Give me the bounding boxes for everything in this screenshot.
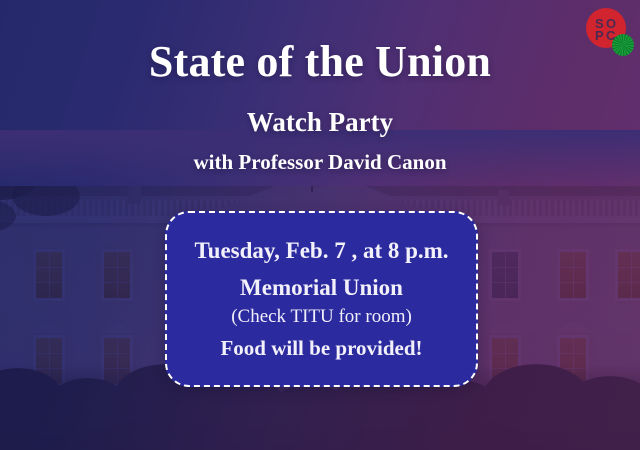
event-subtitle: Watch Party	[0, 107, 640, 138]
logo-letter-c: C	[606, 29, 615, 42]
sopc-logo: S O P C	[586, 8, 634, 56]
event-presenter: with Professor David Canon	[0, 150, 640, 175]
flyer-content: State of the Union Watch Party with Prof…	[0, 0, 640, 450]
logo-letter-p: P	[595, 29, 604, 42]
event-location: Memorial Union	[240, 275, 403, 302]
event-food-note: Food will be provided!	[220, 336, 422, 360]
event-datetime: Tuesday, Feb. 7 , at 8 p.m.	[194, 238, 448, 265]
event-room-note: (Check TITU for room)	[231, 306, 412, 328]
event-details-box: Tuesday, Feb. 7 , at 8 p.m. Memorial Uni…	[165, 211, 478, 387]
event-flyer: State of the Union Watch Party with Prof…	[0, 0, 640, 450]
page-title: State of the Union	[0, 36, 640, 87]
